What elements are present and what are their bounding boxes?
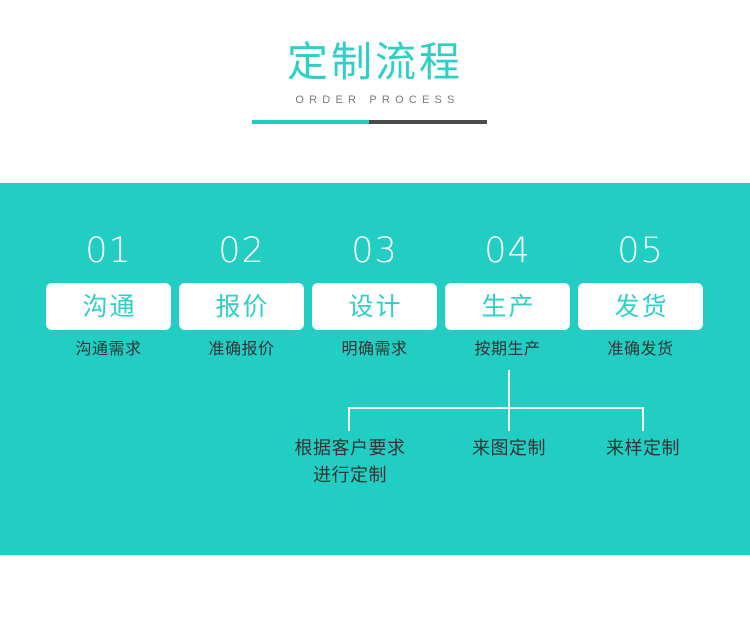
branch-label-line-1: 来样定制 xyxy=(578,435,708,462)
step-pill-quotation[interactable]: 报价 xyxy=(179,283,304,330)
process-step-04: 04 生产 按期生产 xyxy=(445,230,570,360)
step-pill-production[interactable]: 生产 xyxy=(445,283,570,330)
step-number: 03 xyxy=(312,230,437,272)
page-subtitle: ORDER PROCESS xyxy=(0,93,750,108)
step-number: 01 xyxy=(46,230,171,272)
process-step-03: 03 设计 明确需求 xyxy=(312,230,437,360)
step-description: 准确发货 xyxy=(578,340,703,360)
connector-horizontal xyxy=(348,407,644,409)
connector-leg-left xyxy=(348,407,350,431)
step-description: 准确报价 xyxy=(179,340,304,360)
connector-leg-right xyxy=(642,407,644,431)
step-pill-communication[interactable]: 沟通 xyxy=(46,283,171,330)
step-pill-shipping[interactable]: 发货 xyxy=(578,283,703,330)
page-title: 定制流程 xyxy=(0,38,750,86)
step-number: 04 xyxy=(445,230,570,272)
step-pill-label: 设计 xyxy=(346,293,402,321)
connector-stem xyxy=(508,370,510,408)
branch-label-line-1: 来图定制 xyxy=(444,435,574,462)
title-rule-dark xyxy=(369,120,487,124)
process-step-05: 05 发货 准确发货 xyxy=(578,230,703,360)
step-pill-label: 沟通 xyxy=(80,293,136,321)
process-step-01: 01 沟通 沟通需求 xyxy=(46,230,171,360)
step-pill-label: 生产 xyxy=(479,293,535,321)
order-process-banner: 定制流程 ORDER PROCESS 01 沟通 沟通需求 02 报价 准确报价 xyxy=(0,0,750,632)
step-pill-design[interactable]: 设计 xyxy=(312,283,437,330)
step-description: 按期生产 xyxy=(445,340,570,360)
step-pill-label: 报价 xyxy=(213,293,269,321)
branch-label-by-drawing: 来图定制 xyxy=(444,435,574,462)
process-step-02: 02 报价 准确报价 xyxy=(179,230,304,360)
step-description: 明确需求 xyxy=(312,340,437,360)
title-rule-teal xyxy=(252,120,369,124)
branch-label-line-1: 根据客户要求 xyxy=(255,435,445,462)
connector-leg-center xyxy=(508,407,510,431)
branch-label-by-sample: 来样定制 xyxy=(578,435,708,462)
process-step-list: 01 沟通 沟通需求 02 报价 准确报价 03 设计 明确需求 xyxy=(46,230,704,380)
process-panel: 01 沟通 沟通需求 02 报价 准确报价 03 设计 明确需求 xyxy=(0,183,750,555)
step-number: 05 xyxy=(578,230,703,272)
banner-header: 定制流程 ORDER PROCESS xyxy=(0,0,750,183)
step-pill-label: 发货 xyxy=(612,293,668,321)
step-description: 沟通需求 xyxy=(46,340,171,360)
branch-label-line-2: 进行定制 xyxy=(255,462,445,489)
step-number: 02 xyxy=(179,230,304,272)
branch-label-custom-requirements: 根据客户要求 进行定制 xyxy=(255,435,445,489)
